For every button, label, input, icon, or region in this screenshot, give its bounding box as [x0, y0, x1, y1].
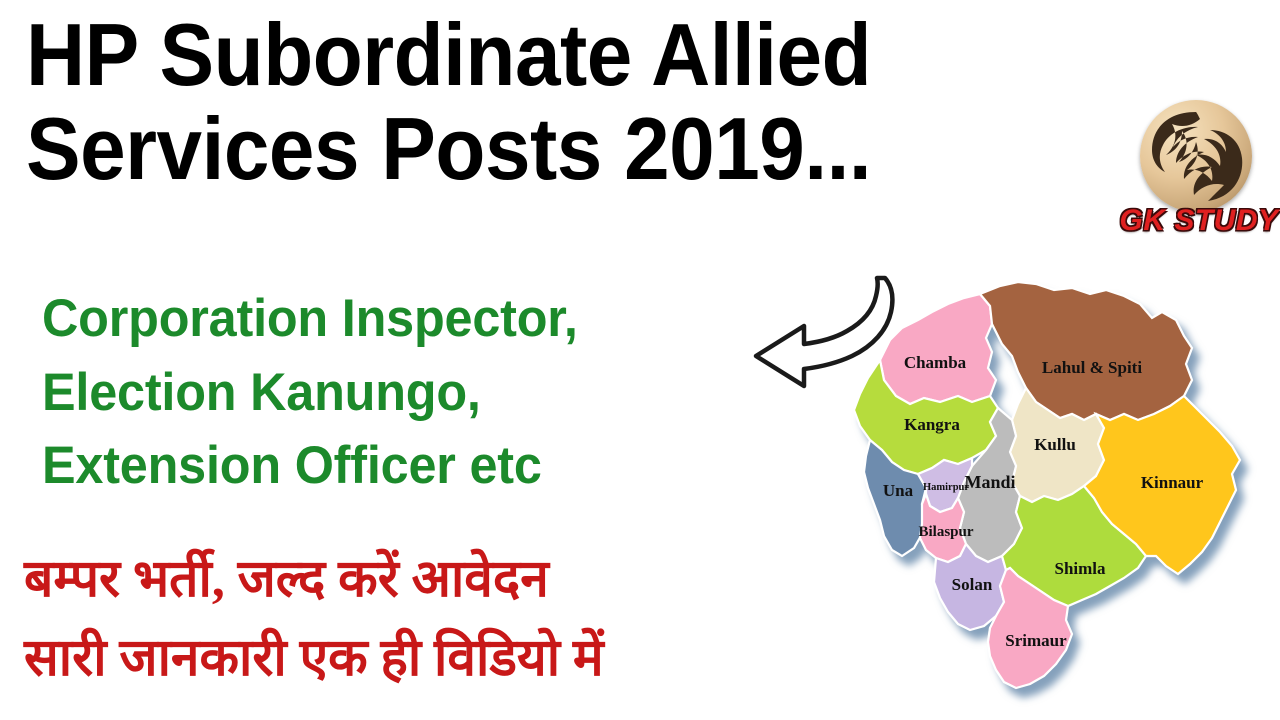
- district-lahul-spiti: [980, 282, 1192, 420]
- title-line-2: Services Posts 2019...: [26, 102, 1058, 196]
- district-label-srimaur: Srimaur: [1005, 631, 1067, 650]
- district-chamba: [880, 294, 996, 404]
- district-label-chamba: Chamba: [904, 353, 967, 372]
- brand-name: GK STUDY: [1118, 204, 1280, 238]
- post-line-2: Election Kanungo,: [42, 356, 764, 430]
- district-label-solan: Solan: [952, 575, 993, 594]
- swirl-emblem-icon: [1140, 100, 1252, 212]
- posts-list: Corporation Inspector, Election Kanungo,…: [42, 282, 802, 503]
- thumbnail-canvas: HP Subordinate Allied Services Posts 201…: [0, 0, 1280, 720]
- post-line-1: Corporation Inspector,: [42, 282, 764, 356]
- district-label-kangra: Kangra: [904, 415, 960, 434]
- district-label-kullu: Kullu: [1034, 435, 1076, 454]
- district-label-lahul-spiti: Lahul & Spiti: [1042, 358, 1142, 377]
- hindi-line-1: बम्पर भर्ती, जल्द करें आवेदन: [24, 540, 885, 619]
- himachal-pradesh-district-map: Chamba Lahul & Spiti Kangra Kullu Mandi …: [840, 268, 1280, 720]
- hindi-callout: बम्पर भर्ती, जल्द करें आवेदन सारी जानकार…: [24, 540, 894, 698]
- hindi-line-2: सारी जानकारी एक ही विडियो में: [24, 619, 885, 698]
- district-label-hamirpur: Hamirpur: [923, 482, 969, 493]
- district-label-mandi: Mandi: [964, 472, 1015, 492]
- district-label-kinnaur: Kinnaur: [1141, 473, 1204, 492]
- brand-logo: GK STUDY: [1118, 100, 1280, 255]
- post-line-3: Extension Officer etc: [42, 429, 764, 503]
- page-title: HP Subordinate Allied Services Posts 201…: [26, 8, 1136, 196]
- district-label-bilaspur: Bilaspur: [918, 524, 973, 540]
- district-label-shimla: Shimla: [1054, 559, 1106, 578]
- title-line-1: HP Subordinate Allied: [26, 8, 1058, 102]
- district-label-una: Una: [883, 481, 914, 500]
